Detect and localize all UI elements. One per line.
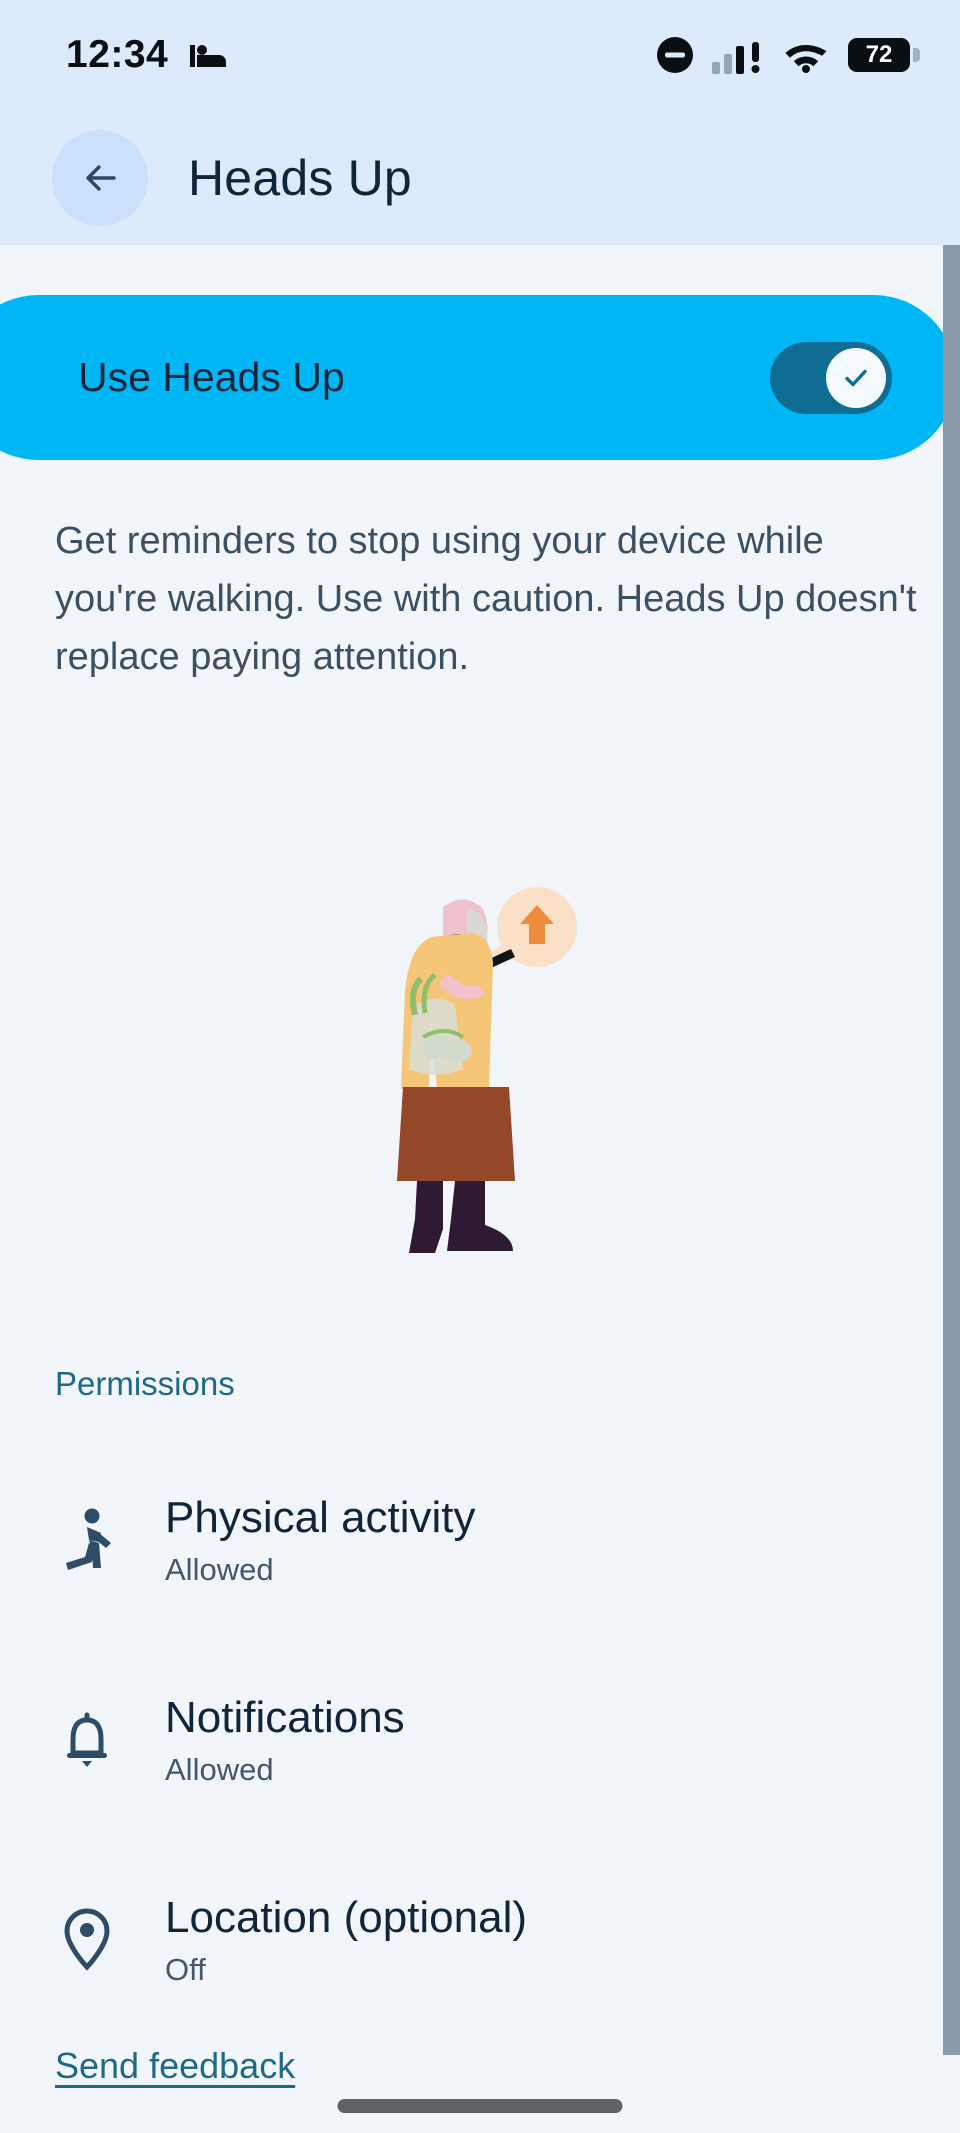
permission-row-notifications[interactable]: Notifications Allowed <box>0 1640 960 1840</box>
permission-title: Notifications <box>165 1696 405 1740</box>
permission-text-location: Location (optional) Off <box>165 1896 527 1985</box>
location-pin-icon <box>45 1907 165 1973</box>
cellular-signal-warning-icon <box>712 36 764 74</box>
battery-indicator: 72 <box>848 38 920 72</box>
running-person-icon <box>45 1507 165 1573</box>
bell-icon <box>45 1709 165 1771</box>
use-heads-up-switch[interactable] <box>770 342 892 414</box>
permissions-list: Physical activity Allowed Notifications … <box>0 1440 960 2040</box>
do-not-disturb-icon <box>656 36 694 74</box>
permission-text-notifications: Notifications Allowed <box>165 1696 405 1785</box>
status-bar-right: 72 <box>656 36 920 74</box>
arrow-left-icon <box>76 154 124 202</box>
permission-status: Allowed <box>165 1754 405 1785</box>
vertical-scrollbar[interactable] <box>943 245 960 2055</box>
permissions-section-title: Permissions <box>55 1365 235 1403</box>
wifi-icon <box>782 37 830 73</box>
status-bar: 12:34 <box>0 0 960 110</box>
gesture-navigation-bar[interactable] <box>338 2099 623 2113</box>
permission-title: Location (optional) <box>165 1896 527 1940</box>
status-bar-left: 12:34 <box>66 33 228 77</box>
send-feedback-link[interactable]: Send feedback <box>55 2045 295 2087</box>
person-walking-with-phone-illustration <box>0 865 960 1285</box>
switch-thumb <box>826 348 886 408</box>
permission-text-physical-activity: Physical activity Allowed <box>165 1496 476 1585</box>
app-bar: Heads Up <box>0 110 960 245</box>
status-bar-clock: 12:34 <box>66 33 168 77</box>
heads-up-settings-screen: 12:34 <box>0 0 960 2133</box>
permission-status: Off <box>165 1954 527 1985</box>
description-text: Get reminders to stop using your device … <box>55 513 935 686</box>
scroll-content: Use Heads Up Get reminders to stop using… <box>0 245 960 2133</box>
use-heads-up-card[interactable]: Use Heads Up <box>0 295 956 460</box>
battery-percent-label: 72 <box>866 43 893 67</box>
use-heads-up-label: Use Heads Up <box>78 354 345 401</box>
bed-icon <box>190 41 228 69</box>
page-title: Heads Up <box>188 149 412 207</box>
permission-row-location[interactable]: Location (optional) Off <box>0 1840 960 2040</box>
battery-cap <box>913 48 920 62</box>
check-icon <box>839 361 873 395</box>
back-button[interactable] <box>52 130 148 226</box>
permission-row-physical-activity[interactable]: Physical activity Allowed <box>0 1440 960 1640</box>
permission-title: Physical activity <box>165 1496 476 1540</box>
permission-status: Allowed <box>165 1554 476 1585</box>
